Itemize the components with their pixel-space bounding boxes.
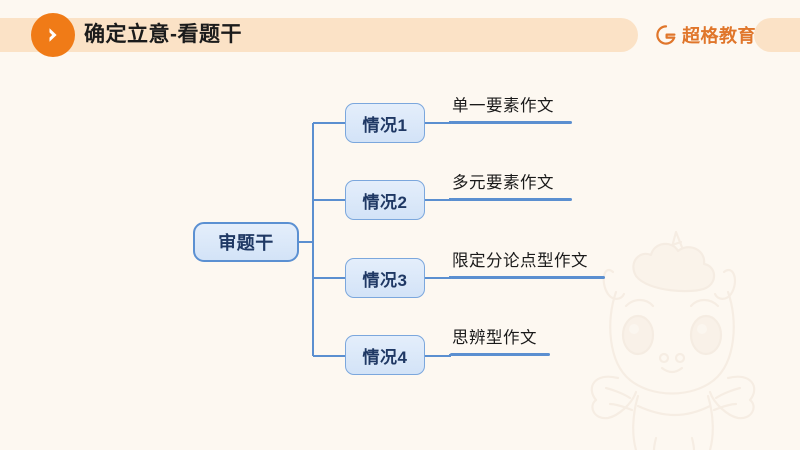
- mindmap-leaf-underline-4: [450, 353, 550, 356]
- mindmap-leaf-label-1: 单一要素作文: [452, 95, 554, 117]
- mindmap-leaf-underline-1: [450, 121, 572, 124]
- mindmap-node-case-2[interactable]: 情况2: [345, 180, 425, 220]
- g-circle-logo-icon: [655, 24, 677, 46]
- mindmap-node-case-3[interactable]: 情况3: [345, 258, 425, 298]
- chevron-right-icon: [31, 13, 75, 57]
- brand-logo: 超格教育: [655, 19, 756, 51]
- slide-canvas: 确定立意-看题干 超格教育: [0, 0, 800, 450]
- mindmap-leaf-label-3: 限定分论点型作文: [452, 250, 588, 272]
- mindmap-leaf-label-4: 思辨型作文: [452, 327, 537, 349]
- header-band-right: [754, 18, 800, 52]
- mindmap-leaf-label-2: 多元要素作文: [452, 172, 554, 194]
- slide-header: 确定立意-看题干 超格教育: [0, 0, 800, 70]
- mindmap-diagram: 审题干 情况1 情况2 情况3 情况4 单一要素作文 多元要素作文 限定分论点型…: [0, 70, 800, 450]
- mindmap-leaf-underline-2: [450, 198, 572, 201]
- mindmap-node-case-4[interactable]: 情况4: [345, 335, 425, 375]
- mindmap-node-case-1[interactable]: 情况1: [345, 103, 425, 143]
- page-title: 确定立意-看题干: [84, 19, 242, 51]
- mindmap-leaf-underline-3: [450, 276, 605, 279]
- brand-name: 超格教育: [682, 22, 756, 48]
- mindmap-root-node[interactable]: 审题干: [193, 222, 299, 262]
